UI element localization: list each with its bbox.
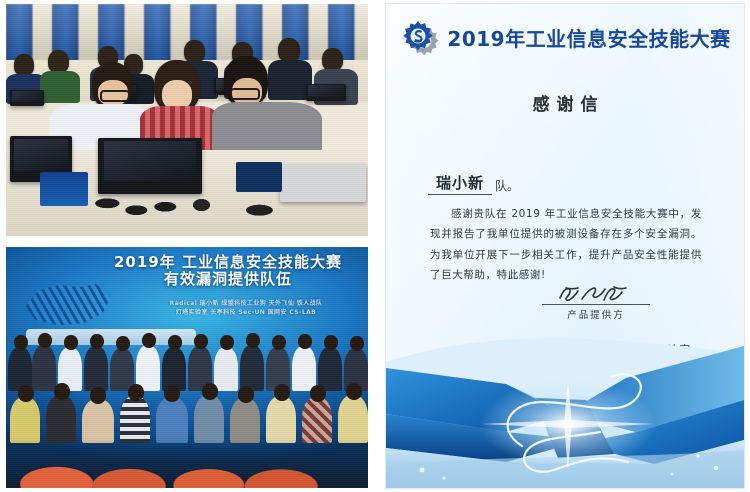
cable-bundle xyxy=(6,150,368,236)
screenshot-root: 2019年 工业信息安全技能大赛 有效漏洞提供队伍 Radical 瑞小新 绿盟… xyxy=(0,0,750,492)
certificate-recipient: 瑞小新 队。 xyxy=(428,172,519,195)
left-photo-column: 2019年 工业信息安全技能大赛 有效漏洞提供队伍 Radical 瑞小新 绿盟… xyxy=(0,0,372,492)
certificate-subject: 感谢信 xyxy=(386,90,744,115)
audience-row-back xyxy=(6,383,368,443)
stage-banner-line1: 2019年 工业信息安全技能大赛 xyxy=(94,254,362,271)
audience-seats xyxy=(6,438,368,488)
handshake-polygon-art xyxy=(386,328,744,488)
handwritten-signature xyxy=(536,282,656,304)
photo-award-stage: 2019年 工业信息安全技能大赛 有效漏洞提供队伍 Radical 瑞小新 绿盟… xyxy=(6,247,368,488)
certificate-thank-you-letter: 2019年工业信息安全技能大赛 感谢信 瑞小新 队。 感谢贵队在 2019 年工… xyxy=(386,4,744,488)
recipient-name: 瑞小新 xyxy=(428,172,492,195)
certificate-title: 2019年工业信息安全技能大赛 xyxy=(447,23,730,52)
stage-team-line1: Radical 瑞小新 绿盟科技工业狗 天外飞仙 铁人战队 xyxy=(126,299,366,308)
handshake-decoration xyxy=(386,328,744,488)
stage-team-line2: 灯塔实验室 长亭科技 Sec-UN 国网安 CS-LAB xyxy=(126,308,366,317)
stage-banner-line2: 有效漏洞提供队伍 xyxy=(94,271,362,288)
signature-block: 产品提供方 xyxy=(536,282,656,321)
photo-competition-hall xyxy=(6,4,368,236)
signature-label: 产品提供方 xyxy=(536,307,656,321)
stage-team-list: Radical 瑞小新 绿盟科技工业狗 天外飞仙 铁人战队 灯塔实验室 长亭科技… xyxy=(126,299,366,317)
certificate-header: 2019年工业信息安全技能大赛 xyxy=(386,14,744,60)
recipient-suffix: 队。 xyxy=(495,177,519,195)
stage-banner-text: 2019年 工业信息安全技能大赛 有效漏洞提供队伍 xyxy=(94,254,362,288)
gear-icon xyxy=(401,19,435,53)
contest-logo xyxy=(399,18,441,56)
certificate-body-text: 感谢贵队在 2019 年工业信息安全技能大赛中，发现并报告了我单位提供的被测设备… xyxy=(430,204,702,286)
